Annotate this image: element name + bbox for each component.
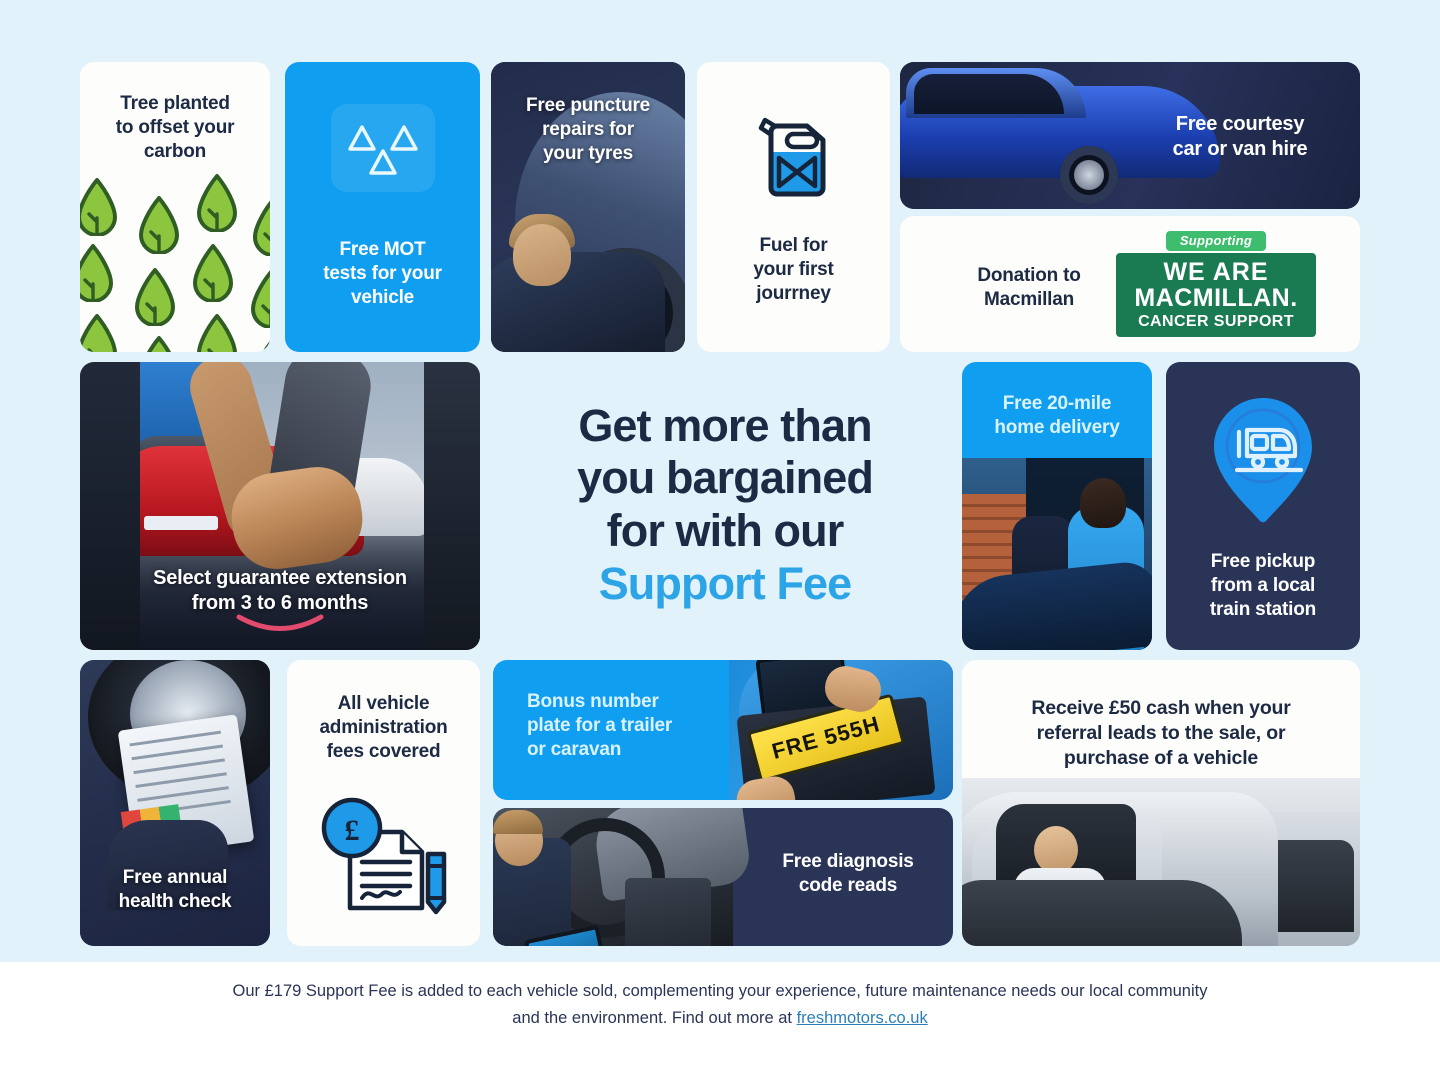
infographic-page: Tree plantedto offset yourcarbon [0, 0, 1440, 1080]
car-driver-photo [962, 778, 1360, 946]
macmillan-line-1: WE ARE [1122, 260, 1310, 285]
card-tree-planted[interactable]: Tree plantedto offset yourcarbon [80, 62, 270, 352]
macmillan-line-2: MACMILLAN. [1122, 286, 1310, 311]
hero-accent-line: Support Fee [599, 558, 852, 611]
jerry-can-icon [755, 108, 833, 205]
card-fuel-title: Fuel foryour firstjourrney [697, 234, 890, 306]
diagnostics-photo [493, 808, 733, 946]
card-train-pickup[interactable]: Free pickupfrom a localtrain station [1166, 362, 1360, 650]
card-admin-fees[interactable]: All vehicleadministrationfees covered £ [287, 660, 480, 946]
card-free-mot-title: Free MOTtests for yourvehicle [285, 238, 480, 310]
card-home-delivery-title: Free 20-milehome delivery [962, 392, 1152, 440]
footer-link[interactable]: freshmotors.co.uk [797, 1009, 928, 1027]
hero-line-3: for with our [607, 505, 844, 558]
card-guarantee-extension-title: Select guarantee extensionfrom 3 to 6 mo… [80, 566, 480, 617]
footer-text: Our £179 Support Fee is added to each ve… [233, 982, 1208, 1027]
card-bonus-number-plate-title: Bonus numberplate for a traileror carava… [527, 690, 747, 762]
card-train-pickup-title: Free pickupfrom a localtrain station [1166, 550, 1360, 622]
card-courtesy-car[interactable]: Free courtesycar or van hire [900, 62, 1360, 209]
macmillan-line-3: CANCER SUPPORT [1122, 314, 1310, 330]
svg-text:£: £ [344, 814, 359, 847]
card-guarantee-extension[interactable]: Select guarantee extensionfrom 3 to 6 mo… [80, 362, 480, 650]
home-delivery-photo [962, 458, 1152, 650]
card-puncture-repairs[interactable]: Free puncturerepairs foryour tyres [491, 62, 685, 352]
hero-line-2: you bargained [577, 452, 873, 505]
card-annual-health-check[interactable]: Free annualhealth check [80, 660, 270, 946]
card-admin-fees-title: All vehicleadministrationfees covered [287, 692, 480, 764]
mot-triangles-icon [331, 104, 435, 192]
hero-line-1: Get more than [578, 400, 871, 453]
hero-heading: Get more than you bargained for with our… [500, 370, 950, 640]
card-home-delivery[interactable]: Free 20-milehome delivery [962, 362, 1152, 650]
card-referral-cash[interactable]: Receive £50 cash when yourreferral leads… [962, 660, 1360, 946]
card-free-mot[interactable]: Free MOTtests for yourvehicle [285, 62, 480, 352]
card-courtesy-car-title: Free courtesycar or van hire [1120, 112, 1360, 163]
card-macmillan-title: Donation toMacmillan [924, 264, 1134, 312]
card-diagnosis-code-reads-title: Free diagnosiscode reads [743, 850, 953, 898]
card-annual-health-check-title: Free annualhealth check [80, 866, 270, 914]
tree-icon-pattern [80, 170, 270, 352]
card-diagnosis-code-reads[interactable]: Free diagnosiscode reads [493, 808, 953, 946]
card-tree-planted-title: Tree plantedto offset yourcarbon [80, 92, 270, 164]
card-fuel-first-journey[interactable]: Fuel foryour firstjourrney [697, 62, 890, 352]
card-bonus-number-plate[interactable]: FRE 555H Bonus numberplate for a trailer… [493, 660, 953, 800]
pound-document-icon: £ [316, 788, 452, 921]
card-referral-cash-title: Receive £50 cash when yourreferral leads… [962, 696, 1360, 770]
macmillan-logo: Supporting WE ARE MACMILLAN. CANCER SUPP… [1116, 231, 1316, 337]
card-puncture-repairs-title: Free puncturerepairs foryour tyres [491, 94, 685, 166]
macmillan-supporting-tag: Supporting [1166, 231, 1266, 251]
train-pin-icon [1203, 392, 1323, 533]
footer-disclaimer: Our £179 Support Fee is added to each ve… [220, 978, 1220, 1032]
underline-arc-icon [235, 614, 325, 636]
card-macmillan-donation[interactable]: Donation toMacmillan Supporting WE ARE M… [900, 216, 1360, 352]
number-plate-photo: FRE 555H [729, 660, 953, 800]
